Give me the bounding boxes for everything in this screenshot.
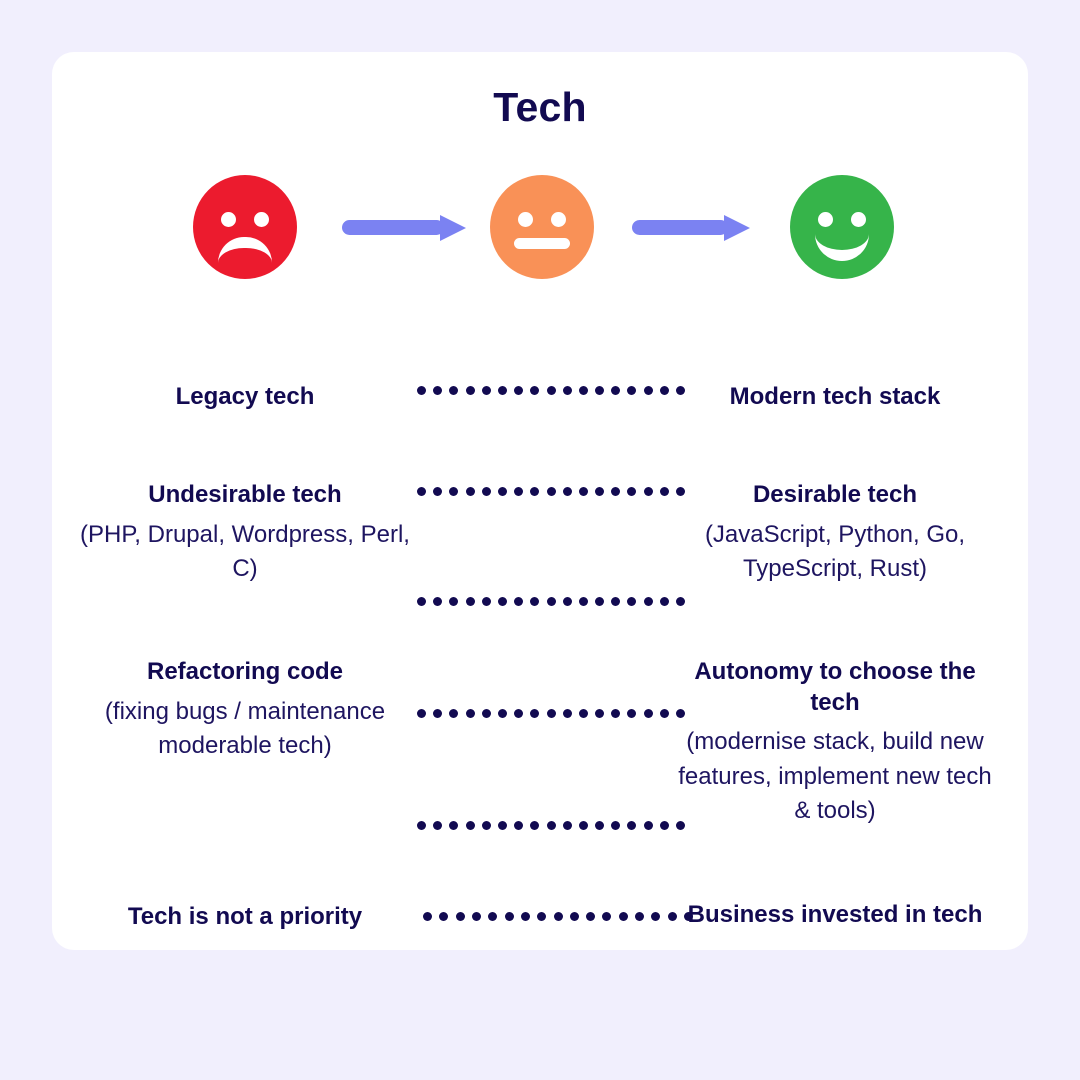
connector-dot [498,709,507,718]
connector-dot [433,487,442,496]
row-4-left-heading: Tech is not a priority [80,902,410,933]
connector-dot [449,821,458,830]
row-3-right-detail: (modernise stack, build new features, im… [670,725,1000,827]
connector-dot [579,597,588,606]
connector-dot [530,821,539,830]
neutral-face-right-eye [551,212,566,227]
connector-dot [537,912,546,921]
connector-dot [644,597,653,606]
connector-dot [570,912,579,921]
comparison-row-1: Legacy tech Modern tech stack [52,302,1028,462]
neutral-face-icon [490,175,594,279]
connector-dot [611,487,620,496]
row-4-right-heading: Business invested in tech [670,900,1000,931]
row-1-right-heading: Modern tech stack [670,382,1000,413]
connector-dot [611,386,620,395]
connector-dot [627,386,636,395]
connector-dot [595,386,604,395]
connector-dot [595,487,604,496]
connector-dot [627,487,636,496]
connector-dot [514,709,523,718]
connector-dot [514,597,523,606]
connector-dot [417,487,426,496]
connector-dot [417,386,426,395]
connector-dot [563,386,572,395]
connector-dot [472,912,481,921]
comparison-grid: Legacy tech Modern tech stack Undesirabl… [52,302,1028,972]
connector-dot [514,487,523,496]
connector-dot [456,912,465,921]
arrow-2-shaft [632,220,728,235]
connector-dot [660,386,669,395]
connector-dot [505,912,514,921]
happy-face-icon [790,175,894,279]
dotted-connector [417,597,685,606]
connector-dot [660,487,669,496]
neutral-face-mouth [514,238,570,249]
connector-dot [563,597,572,606]
connector-dot [611,597,620,606]
connector-dot [547,386,556,395]
row-2-right-heading: Desirable tech [670,480,1000,511]
connector-dot [676,597,685,606]
connector-dot [530,386,539,395]
happy-face-right-eye [851,212,866,227]
connector-dot [521,912,530,921]
connector-dot [595,597,604,606]
connector-dot [498,487,507,496]
arrow-1-head [440,215,466,241]
connector-dot [627,597,636,606]
connector-dot [602,912,611,921]
arrow-1-shaft [342,220,444,235]
connector-dot [651,912,660,921]
connector-dot [466,597,475,606]
row-2-left-detail: (PHP, Drupal, Wordpress, Perl, C) [80,518,410,586]
dotted-connector [417,709,685,718]
connector-dot [530,597,539,606]
comparison-row-4: Tech is not a priority Business invested… [52,872,1028,972]
connector-dot [595,821,604,830]
connector-dot [433,821,442,830]
connector-dot [644,386,653,395]
dotted-connector [417,386,685,395]
row-1-left-heading: Legacy tech [80,382,410,413]
connector-dot [660,709,669,718]
connector-dot [433,386,442,395]
connector-dot [619,912,628,921]
connector-dot [611,709,620,718]
connector-dot [449,487,458,496]
connector-dot [417,597,426,606]
comparison-row-2: Undesirable tech (PHP, Drupal, Wordpress… [52,462,1028,657]
connector-dot [579,709,588,718]
row-2-left-cell: Undesirable tech (PHP, Drupal, Wordpress… [80,480,410,586]
connector-dot [660,597,669,606]
row-3-left-detail: (fixing bugs / maintenance moderable tec… [80,695,410,763]
connector-dot [482,386,491,395]
connector-dot [466,709,475,718]
row-2-right-cell: Desirable tech (JavaScript, Python, Go, … [670,480,1000,586]
connector-dot [547,597,556,606]
connector-dot [433,597,442,606]
connector-dot [423,912,432,921]
connector-dot [627,709,636,718]
row-2-right-detail: (JavaScript, Python, Go, TypeScript, Rus… [670,518,1000,586]
connector-dot [563,709,572,718]
connector-dot [488,912,497,921]
connector-dot [554,912,563,921]
connector-dot [417,709,426,718]
dotted-connector [417,487,685,496]
row-3-left-cell: Refactoring code (fixing bugs / maintena… [80,657,410,763]
sad-face-right-eye [254,212,269,227]
connector-dot [611,821,620,830]
arrow-right-icon-2 [632,215,752,239]
connector-dot [530,709,539,718]
dotted-connector [423,912,693,921]
neutral-face-left-eye [518,212,533,227]
connector-dot [498,821,507,830]
row-4-left-cell: Tech is not a priority [80,902,410,933]
happy-face-mouth [815,233,869,261]
connector-dot [530,487,539,496]
connector-dot [498,386,507,395]
connector-dot [627,821,636,830]
row-3-right-heading: Autonomy to choose the tech [670,657,1000,718]
arrow-right-icon-1 [342,215,468,239]
sad-face-icon [193,175,297,279]
connector-dot [579,386,588,395]
connector-dot [547,821,556,830]
connector-dot [635,912,644,921]
connector-dot [563,487,572,496]
connector-dot [547,709,556,718]
connector-dot [449,597,458,606]
row-3-right-cell: Autonomy to choose the tech (modernise s… [670,657,1000,828]
comparison-row-3: Refactoring code (fixing bugs / maintena… [52,657,1028,872]
connector-dot [660,821,669,830]
row-2-left-heading: Undesirable tech [80,480,410,511]
connector-dot [433,709,442,718]
connector-dot [449,709,458,718]
connector-dot [482,821,491,830]
connector-dot [482,487,491,496]
connector-dot [514,386,523,395]
connector-dot [563,821,572,830]
connector-dot [595,709,604,718]
row-1-left-cell: Legacy tech [80,382,410,413]
connector-dot [466,386,475,395]
connector-dot [579,487,588,496]
row-4-right-cell: Business invested in tech [670,900,1000,931]
connector-dot [644,709,653,718]
connector-dot [449,386,458,395]
connector-dot [482,597,491,606]
row-1-right-cell: Modern tech stack [670,382,1000,413]
arrow-2-head [724,215,750,241]
sad-face-mouth [218,237,272,263]
connector-dot [439,912,448,921]
connector-dot [547,487,556,496]
connector-dot [417,821,426,830]
dotted-connector [417,821,685,830]
row-3-left-heading: Refactoring code [80,657,410,688]
connector-dot [466,821,475,830]
connector-dot [498,597,507,606]
connector-dot [586,912,595,921]
infographic-card: Tech Legacy tech [52,52,1028,950]
connector-dot [466,487,475,496]
connector-dot [514,821,523,830]
connector-dot [644,487,653,496]
page-title: Tech [52,84,1028,131]
connector-dot [482,709,491,718]
faces-row [52,175,1028,285]
happy-face-left-eye [818,212,833,227]
sad-face-left-eye [221,212,236,227]
connector-dot [579,821,588,830]
connector-dot [644,821,653,830]
